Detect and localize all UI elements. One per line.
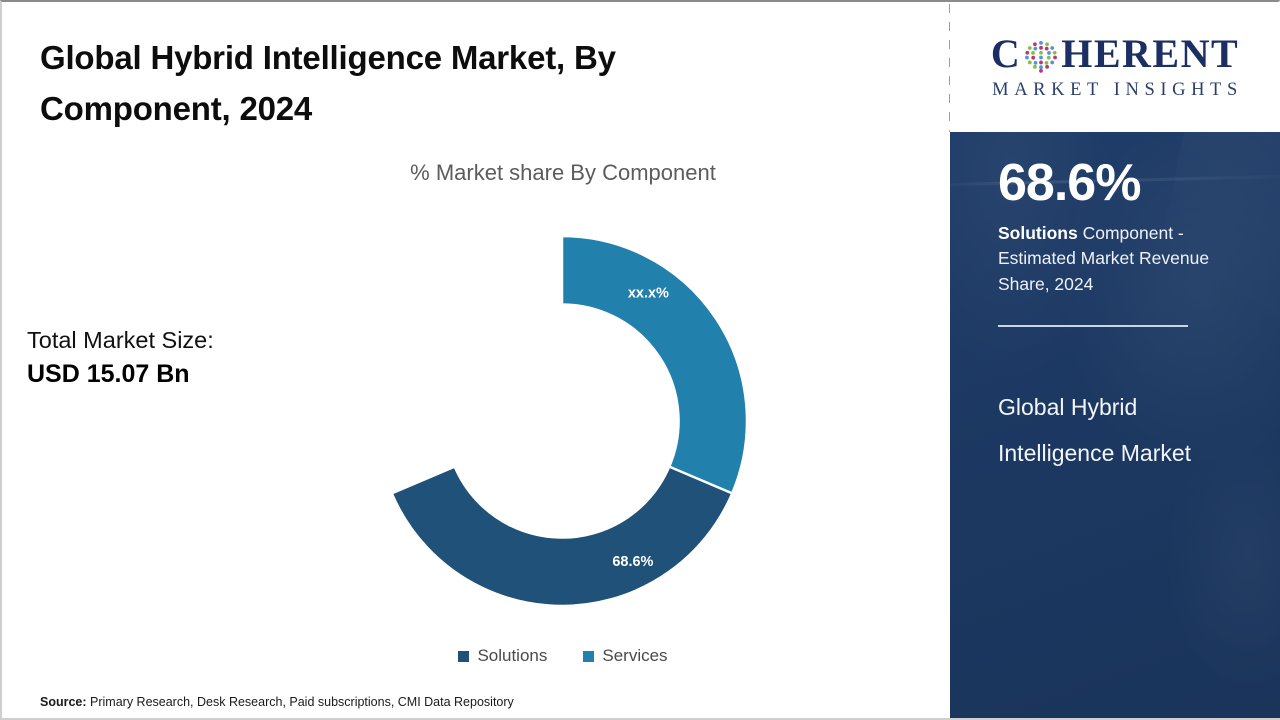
- donut-label-services: xx.x%: [628, 286, 669, 302]
- highlight-stat-block: 68.6% Solutions Component - Estimated Ma…: [998, 156, 1246, 298]
- dotted-globe-icon: [1022, 37, 1060, 75]
- donut-slice-services[interactable]: [562, 236, 747, 493]
- brand-logo[interactable]: C: [950, 2, 1280, 132]
- legend-label-services: Services: [602, 646, 667, 666]
- source-value: Primary Research, Desk Research, Paid su…: [87, 695, 514, 709]
- brand-wordmark-rest: HERENT: [1061, 34, 1239, 74]
- panel-divider-rule: [998, 325, 1188, 327]
- donut-chart-svg: 68.6% xx.x%: [377, 230, 747, 612]
- source-label: Source:: [40, 695, 87, 709]
- stat-caption-strong: Solutions: [998, 223, 1078, 243]
- legend-swatch-services: [583, 651, 594, 662]
- left-content-pane: Global Hybrid Intelligence Market, By Co…: [2, 2, 948, 718]
- stat-caption: Solutions Component - Estimated Market R…: [998, 221, 1246, 299]
- brand-wordmark: C: [991, 34, 1239, 74]
- brand-wordmark-c: C: [991, 34, 1021, 74]
- stat-number: 68.6%: [998, 156, 1246, 211]
- legend-swatch-solutions: [458, 651, 469, 662]
- panel-market-name: Global Hybrid Intelligence Market: [998, 384, 1218, 476]
- page-title: Global Hybrid Intelligence Market, By Co…: [40, 32, 740, 134]
- right-panel-body: 68.6% Solutions Component - Estimated Ma…: [950, 132, 1280, 718]
- legend-item-solutions[interactable]: Solutions: [458, 646, 547, 666]
- donut-chart: 68.6% xx.x%: [377, 230, 747, 612]
- legend-label-solutions: Solutions: [477, 646, 547, 666]
- total-market-size-block: Total Market Size: USD 15.07 Bn: [27, 324, 327, 393]
- market-size-label: Total Market Size:: [27, 324, 327, 357]
- legend-item-services[interactable]: Services: [583, 646, 667, 666]
- market-size-value: USD 15.07 Bn: [27, 357, 327, 393]
- source-footnote: Source: Primary Research, Desk Research,…: [40, 695, 514, 709]
- chart-legend: Solutions Services: [198, 646, 928, 666]
- chart-subtitle: % Market share By Component: [198, 160, 928, 186]
- infographic-canvas: Global Hybrid Intelligence Market, By Co…: [0, 0, 1280, 720]
- right-panel: C: [950, 2, 1280, 718]
- brand-tagline: MARKET INSIGHTS: [987, 80, 1243, 101]
- donut-label-solutions: 68.6%: [612, 554, 653, 570]
